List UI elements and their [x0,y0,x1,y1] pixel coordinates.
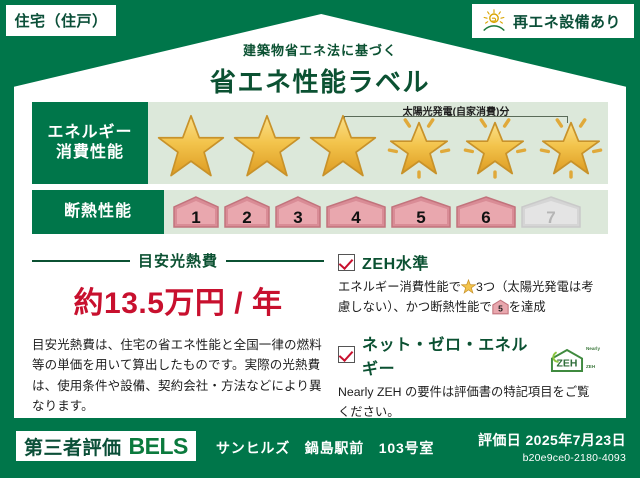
energy-performance-label: 建築物省エネ法に基づく 省エネ性能ラベル エネルギー 消費性能 太陽光発電(自家… [0,0,640,478]
renewable-badge-label: 再エネ設備あり [513,11,621,32]
insulation-grade-badge: 2 [223,195,271,229]
svg-text:5: 5 [498,304,503,314]
zeh-standard-heading: ZEH水準 [338,250,600,274]
star-rating [148,113,608,179]
insulation-grade-badge: 7 [520,195,582,229]
insulation-grade-badge: 1 [172,195,220,229]
energy-performance-row: エネルギー 消費性能 太陽光発電(自家消費)分 [32,102,608,184]
insulation-grade-badge: 3 [274,195,322,229]
check-icon [338,346,355,363]
grade-badge-glyph: 1 [172,195,220,229]
star-icon [154,113,228,179]
insulation-grade-badge: 5 [390,195,452,229]
inline-star-icon [461,279,476,294]
zeh-standard-text-part3: を達成 [509,300,546,314]
svg-text:5: 5 [416,208,425,227]
svg-text:2: 2 [242,208,251,227]
net-zero-text: Nearly ZEH の要件は評価書の特記項目をご覧ください。 [338,383,600,423]
svg-text:7: 7 [546,208,555,227]
bels-en-label: BELS [129,433,188,460]
zeh-column: ZEH水準 エネルギー消費性能で3つ（太陽光発電は考慮しない）、かつ断熱性能で5… [332,250,600,410]
zeh-logo: ZEH Nearly ZEH [550,337,600,373]
insulation-label: 断熱性能 [64,202,132,222]
utility-cost-column: 目安光熱費 約13.5万円 / 年 目安光熱費は、住宅の省エネ性能と全国一律の燃… [32,250,332,410]
star-glyph [154,113,228,179]
evaluation-id: b20e9ce0-2180-4093 [478,452,626,464]
bels-badge: 第三者評価 BELS [16,431,196,461]
insulation-grade-badge: 4 [325,195,387,229]
rule-right [226,260,324,262]
star-solar-glyph [382,113,456,179]
star-icon [230,113,304,179]
insulation-grade-badge: 6 [455,195,517,229]
title-subheading: 建築物省エネ法に基づく [14,40,626,59]
svg-text:6: 6 [481,208,490,227]
zeh-standard-text-part1: エネルギー消費性能で [338,280,461,294]
utility-cost-value: 約13.5万円 / 年 [32,278,324,322]
insulation-performance-row: 断熱性能 1234567 [32,190,608,234]
page-title: 省エネ性能ラベル [14,62,626,99]
svg-text:4: 4 [351,208,361,227]
utility-cost-note: 目安光熱費は、住宅の省エネ性能と全国一律の燃料等の単価を用いて算出したものです。… [32,335,324,416]
sun-over-horizon-icon [480,8,508,34]
utility-cost-heading-text: 目安光熱費 [138,250,218,271]
grade-badge-glyph: 6 [455,195,517,229]
zeh-standard-title: ZEH水準 [362,250,429,274]
inline-grade-badge-icon: 5 [492,299,509,315]
zeh-standard-text: エネルギー消費性能で3つ（太陽光発電は考慮しない）、かつ断熱性能で5を達成 [338,278,600,318]
evaluation-info: 評価日 2025年7月23日 b20e9ce0-2180-4093 [478,430,626,464]
zeh-house-logo-icon: ZEH [550,348,584,373]
grade-badge-glyph: 7 [520,195,582,229]
star-glyph [306,113,380,179]
label-card-inner: 建築物省エネ法に基づく 省エネ性能ラベル エネルギー 消費性能 太陽光発電(自家… [14,14,626,418]
energy-performance-body: 太陽光発電(自家消費)分 [148,102,608,184]
check-icon [338,254,355,271]
evaluation-date: 評価日 2025年7月23日 [478,430,626,450]
energy-label-line1: エネルギー [47,123,132,143]
zeh-logo-sub: Nearly ZEH [586,337,600,373]
grade-badge-glyph: 3 [274,195,322,229]
net-zero-heading: ネット・ゼロ・エネルギー ZEH Nearly ZEH [338,331,600,379]
label-card: 建築物省エネ法に基づく 省エネ性能ラベル エネルギー 消費性能 太陽光発電(自家… [14,14,626,418]
grade-badge-glyph: 4 [325,195,387,229]
svg-text:ZEH: ZEH [556,358,577,369]
star-solar-icon [534,113,608,179]
utility-cost-heading: 目安光熱費 [32,250,324,271]
star-glyph [230,113,304,179]
renewable-equipment-badge: 再エネ設備あり [472,4,634,38]
grade-badge-glyph: 5 [390,195,452,229]
performance-block: エネルギー 消費性能 太陽光発電(自家消費)分 [32,102,608,240]
net-zero-title: ネット・ゼロ・エネルギー [362,331,540,379]
bottom-section: 目安光熱費 約13.5万円 / 年 目安光熱費は、住宅の省エネ性能と全国一律の燃… [32,250,608,410]
energy-performance-label-box: エネルギー 消費性能 [32,102,148,184]
property-address: サンヒルズ 鍋島駅前 103号室 [216,438,434,458]
star-solar-icon [458,113,532,179]
svg-text:3: 3 [293,208,302,227]
zeh-logo-sub-line2: ZEH [586,364,595,369]
insulation-performance-body: 1234567 [164,190,608,234]
energy-label-line2: 消費性能 [56,143,124,163]
label-title-block: 建築物省エネ法に基づく 省エネ性能ラベル [14,40,626,99]
svg-text:1: 1 [191,208,200,227]
star-solar-glyph [458,113,532,179]
insulation-performance-label-box: 断熱性能 [32,190,164,234]
insulation-grade-scale: 1234567 [164,195,582,229]
star-solar-glyph [534,113,608,179]
star-solar-icon [382,113,456,179]
rule-left [32,260,130,262]
zeh-logo-sub-line1: Nearly [586,346,600,351]
grade-badge-glyph: 2 [223,195,271,229]
star-icon [306,113,380,179]
label-footer: 第三者評価 BELS サンヒルズ 鍋島駅前 103号室 評価日 2025年7月2… [0,424,640,478]
bels-jp-label: 第三者評価 [24,433,122,460]
building-type-badge: 住宅（住戸） [6,5,116,36]
